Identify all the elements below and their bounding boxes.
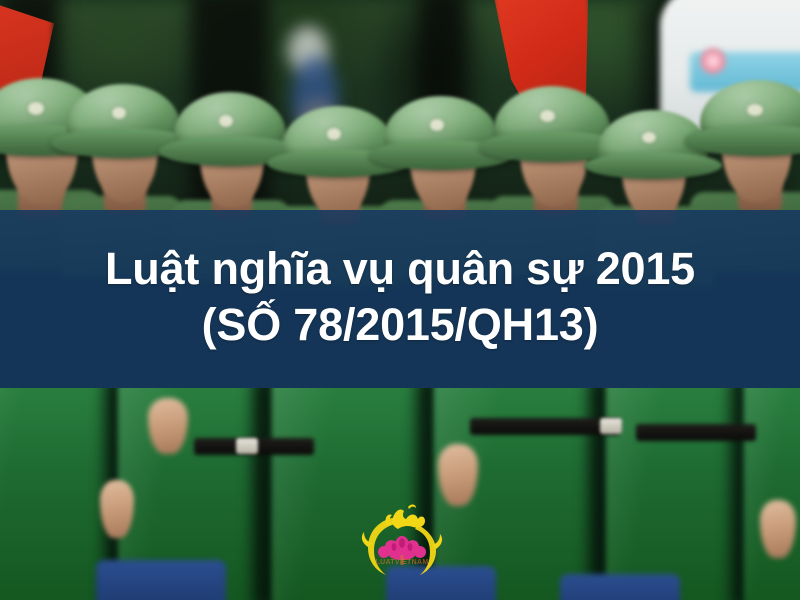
belt-buckle: [236, 438, 258, 454]
belt-buckle: [600, 418, 622, 434]
soldier-hand: [100, 480, 134, 538]
helmet-badge: [219, 115, 234, 127]
soldier-torso: [744, 388, 800, 600]
helmet-badge: [540, 110, 555, 122]
logo-caption: LUATVIETNAM: [358, 559, 446, 566]
dragon-lotus-watermark-logo: LUATVIETNAM: [358, 503, 446, 585]
blue-bag: [96, 560, 226, 600]
soldier-belt: [470, 418, 620, 435]
helmet-badge: [642, 132, 656, 143]
helmet-brim: [584, 152, 723, 180]
soldier-hand: [148, 398, 188, 454]
soldier-belt: [636, 424, 756, 441]
soldier-hand: [760, 500, 796, 558]
helmet-badge: [747, 104, 762, 116]
bus-light: [700, 48, 726, 74]
soldier-torso: [606, 388, 736, 600]
banner-title-line-2: (SỐ 78/2015/QH13): [202, 301, 599, 350]
blue-bag: [560, 574, 680, 600]
title-banner: Luật nghĩa vụ quân sự 2015 (SỐ 78/2015/Q…: [0, 210, 800, 388]
soldier-hand: [438, 444, 478, 506]
poster: Luật nghĩa vụ quân sự 2015 (SỐ 78/2015/Q…: [0, 0, 800, 600]
helmet-badge: [430, 119, 445, 131]
soldier-torso: [0, 388, 110, 600]
helmet-badge: [28, 102, 44, 115]
helmet-badge: [327, 128, 342, 140]
helmet-badge: [112, 107, 127, 119]
banner-title-line-1: Luật nghĩa vụ quân sự 2015: [105, 245, 695, 294]
